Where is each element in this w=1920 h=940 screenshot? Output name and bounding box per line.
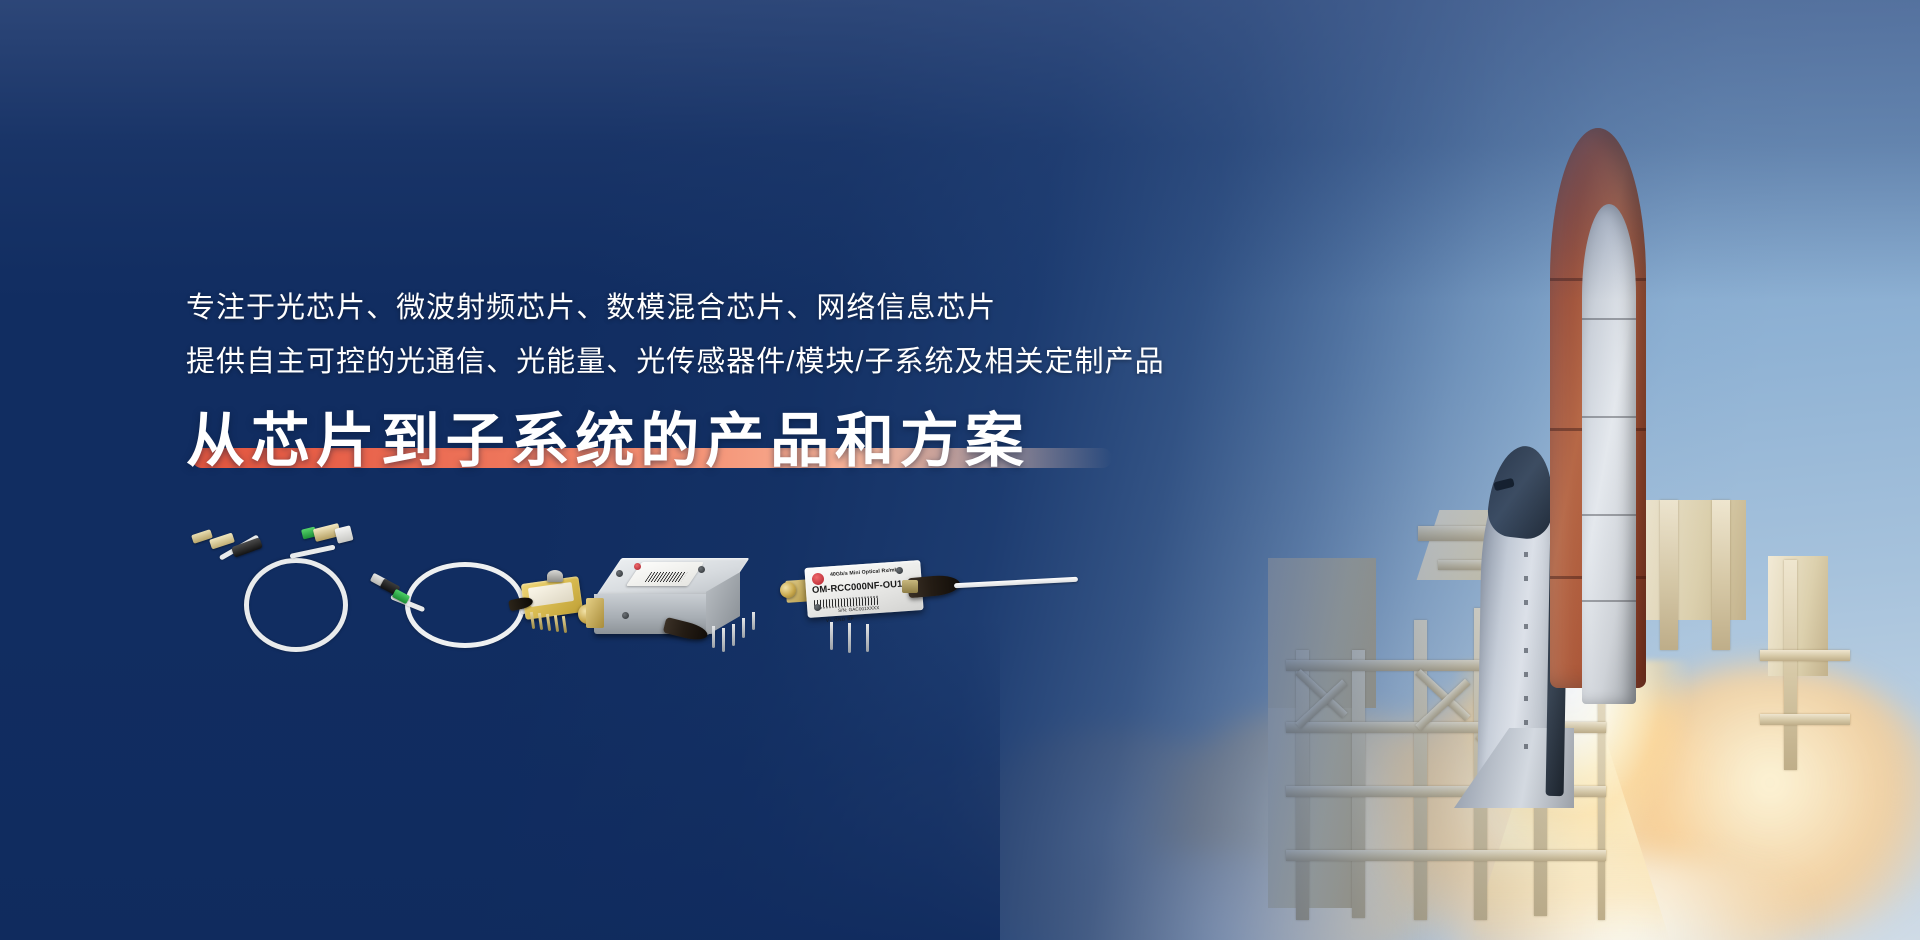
product-rf-box-module: [576, 548, 766, 668]
product-optical-receiver: 40Gb/s Mini Optical Rx/mb OM-RCC000NF-OU…: [786, 540, 1106, 670]
headline-title: 从芯片到子系统的产品和方案: [186, 410, 1030, 474]
product-butterfly-laser: [371, 546, 581, 666]
headline-block: 从芯片到子系统的产品和方案: [186, 410, 1030, 474]
product-showcase-row: 40Gb/s Mini Optical Rx/mb OM-RCC000NF-OU…: [186, 520, 1206, 680]
hero-banner: 专注于光芯片、微波射频芯片、数模混合芯片、网络信息芯片 提供自主可控的光通信、光…: [0, 0, 1920, 940]
banner-copy: 专注于光芯片、微波射频芯片、数模混合芯片、网络信息芯片 提供自主可控的光通信、光…: [186, 286, 1306, 474]
subline-secondary: 提供自主可控的光通信、光能量、光传感器件/模块/子系统及相关定制产品: [186, 340, 1306, 384]
subline-primary: 专注于光芯片、微波射频芯片、数模混合芯片、网络信息芯片: [186, 286, 1306, 330]
product-fiber-patch-cord: [186, 520, 356, 670]
